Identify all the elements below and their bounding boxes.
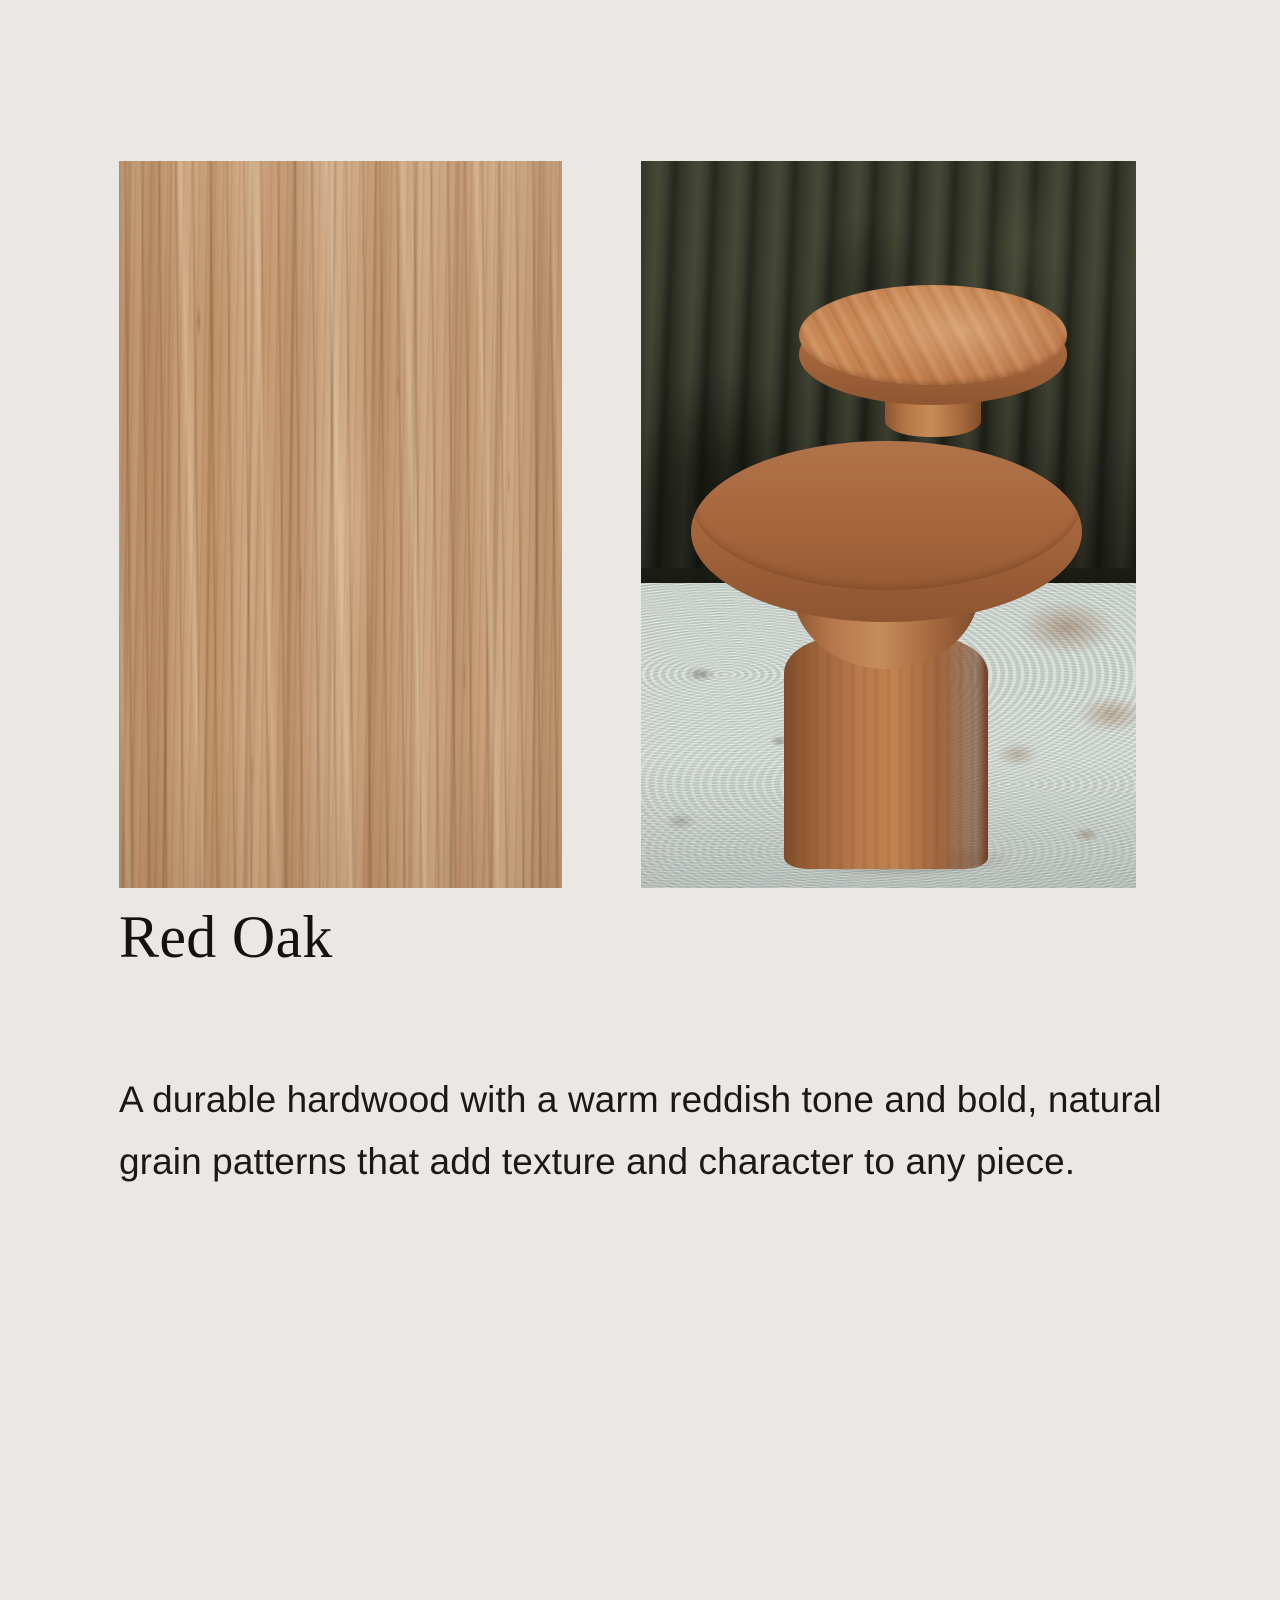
front-table-pedestal	[784, 636, 987, 869]
swatch-grain-shading	[119, 161, 562, 888]
material-title: Red Oak	[119, 906, 333, 969]
back-table-top	[799, 285, 1066, 385]
material-swatch-image	[119, 161, 562, 888]
front-table-top	[691, 408, 1082, 589]
material-description: A durable hardwood with a warm reddish t…	[119, 1069, 1164, 1193]
material-detail-page: Red Oak A durable hardwood with a warm r…	[0, 0, 1280, 1600]
front-side-table	[691, 408, 1082, 873]
material-product-photo	[641, 161, 1136, 888]
material-media-row	[119, 161, 1136, 888]
